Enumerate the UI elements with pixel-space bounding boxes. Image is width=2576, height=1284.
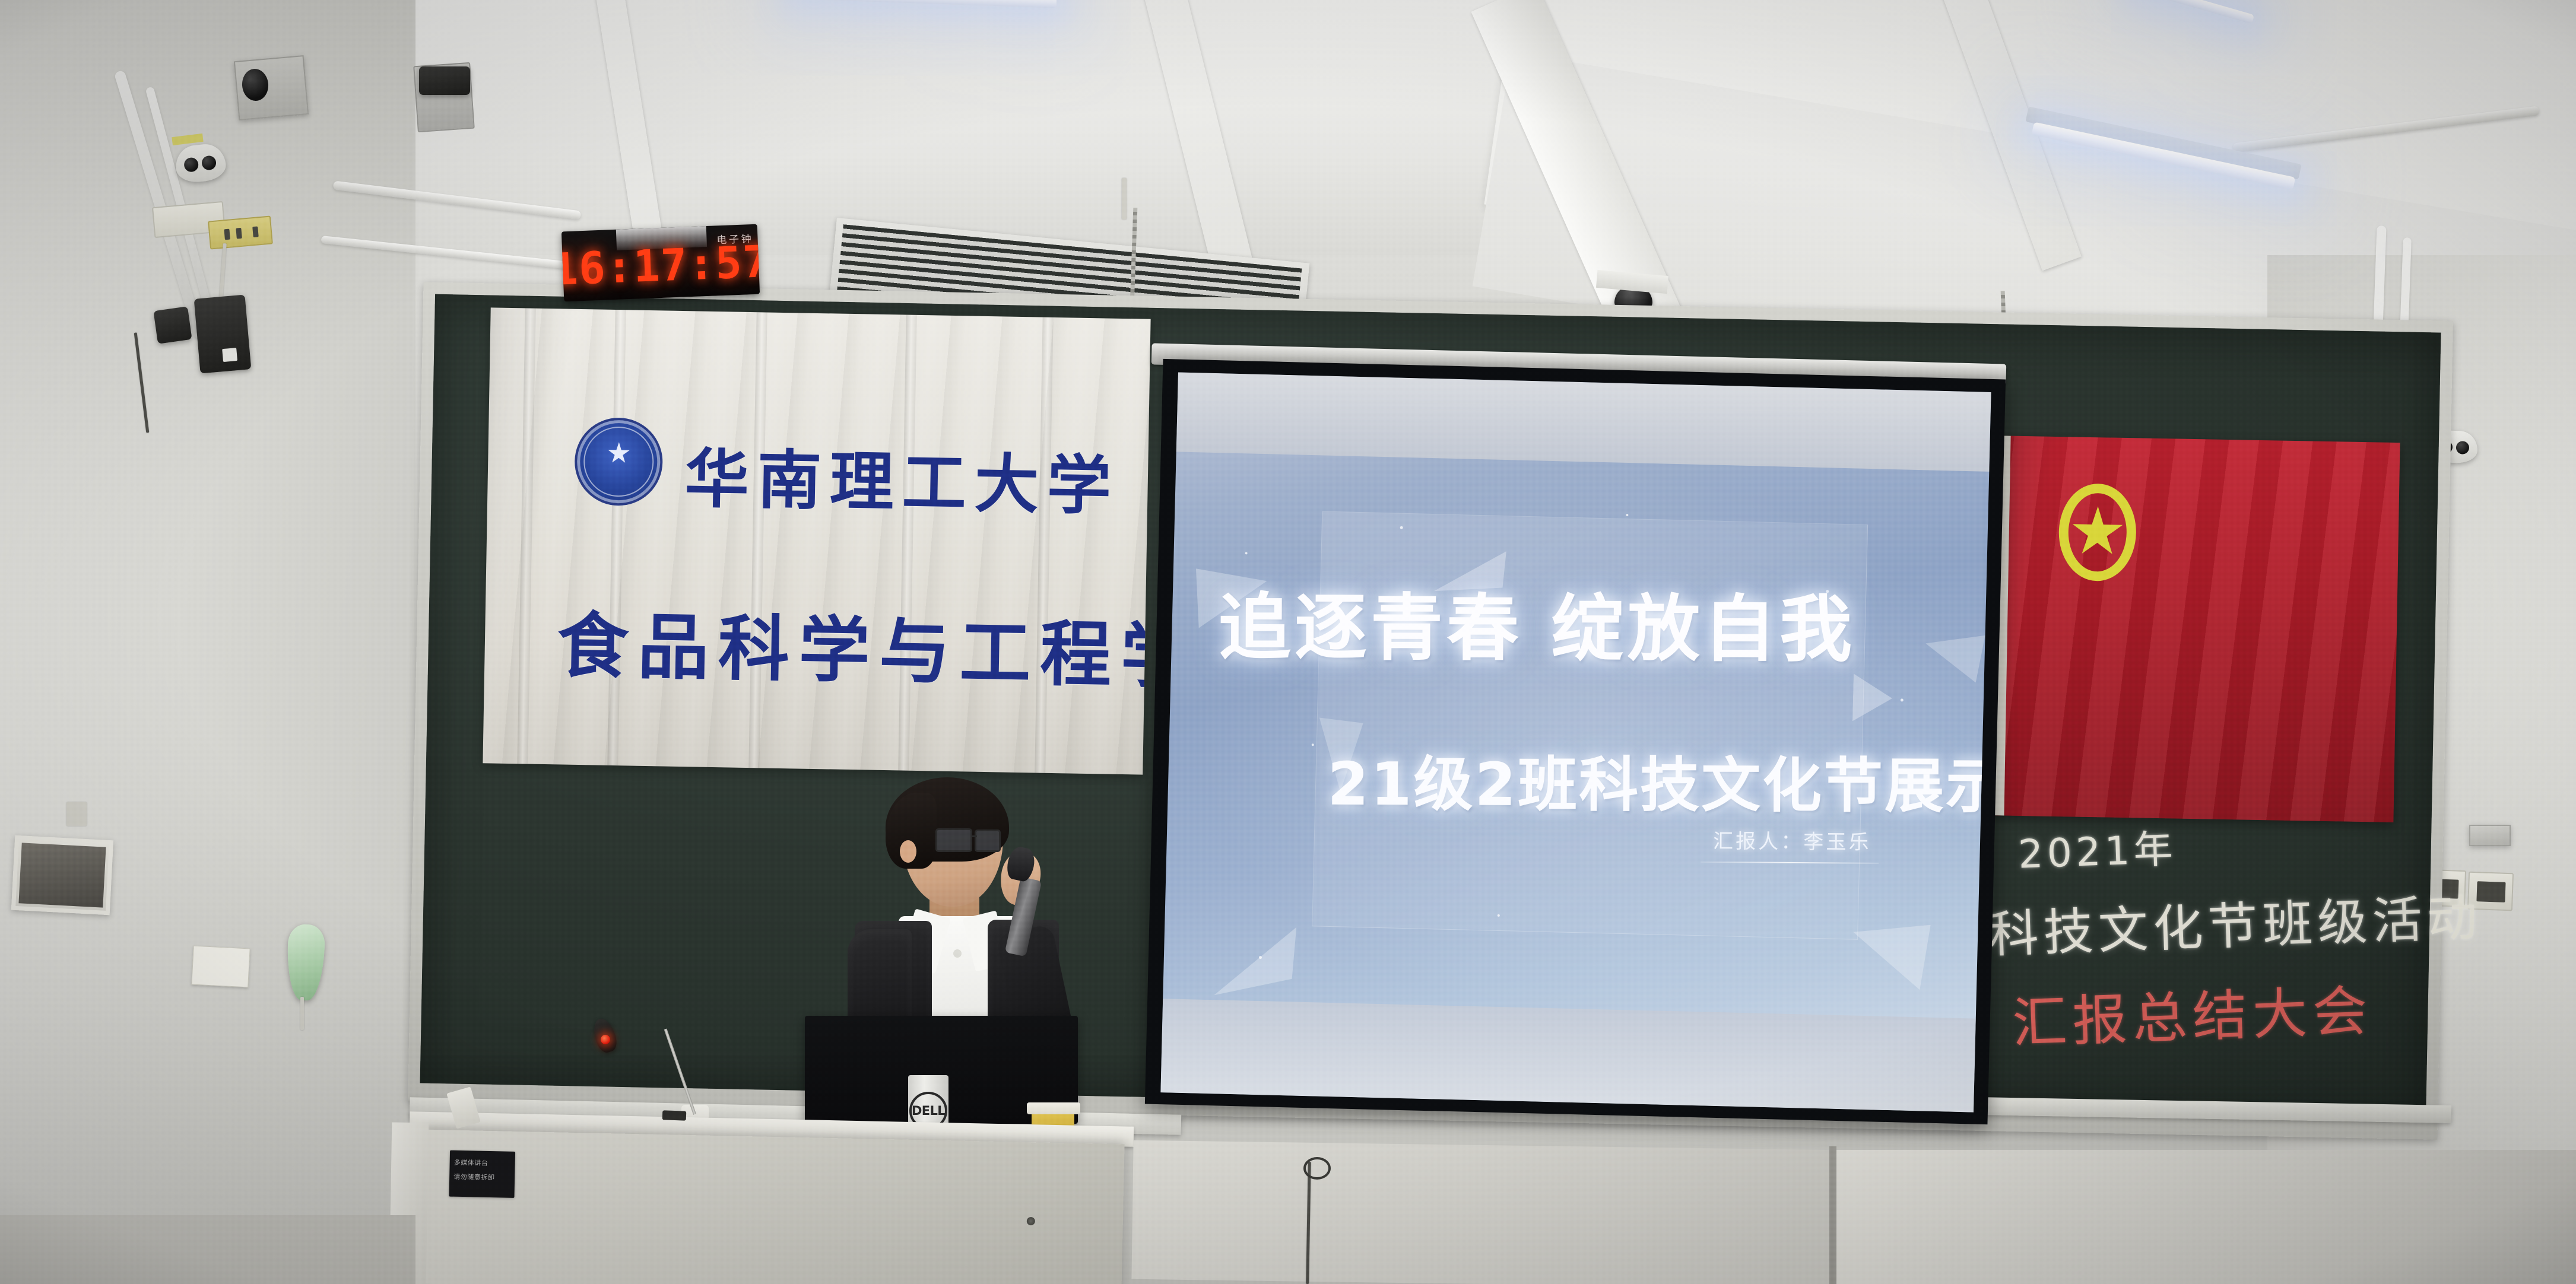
slide-decor-triangle <box>1214 925 1296 997</box>
wall-inspection-panel <box>11 835 113 916</box>
glasses-lens-left <box>935 828 972 852</box>
slide-decor-triangle <box>1925 634 1985 682</box>
nameplate-line-2: 请勿随意拆卸 <box>453 1172 495 1182</box>
shirt-button <box>953 949 962 958</box>
cable-hook <box>1303 1157 1331 1180</box>
board-eraser <box>662 1110 687 1120</box>
banner-university-name: 华南理工大学 <box>684 427 1121 527</box>
mic-power-led <box>601 1035 610 1044</box>
lower-cabinet-left <box>1131 1140 1839 1284</box>
slide-presenter: 汇报人：李玉乐 <box>1713 825 1871 855</box>
lower-cabinet-right <box>1835 1150 2576 1284</box>
presenter-ear <box>900 840 916 863</box>
projection-screen-frame: 追逐青春 绽放自我 21级2班科技文化节展示 汇报人：李玉乐 <box>1145 359 2006 1124</box>
slide-title: 追逐青春 绽放自我 <box>1219 568 1856 676</box>
glasses-bridge <box>971 835 977 837</box>
panel-tag <box>66 802 87 826</box>
chalk-line-meeting: 汇报总结大会 <box>2011 967 2374 1058</box>
youth-league-flag <box>1984 436 2400 822</box>
projection-screen[interactable]: 追逐青春 绽放自我 21级2班科技文化节展示 汇报人：李玉乐 <box>1160 372 1991 1112</box>
hook-cable <box>1122 178 1127 220</box>
lower-wall-left <box>0 1215 415 1284</box>
podium-body[interactable]: 多媒体讲台 请勿随意拆卸 <box>421 1130 1124 1284</box>
intercom-cord <box>300 997 304 1030</box>
chalk-line-year: 2021年 <box>2017 817 2177 879</box>
digital-clock: 电子钟 16:17:57 <box>561 224 760 302</box>
dell-logo-text: DELL <box>912 1104 945 1118</box>
camera-lens-icon <box>2456 441 2470 455</box>
slide-subtitle: 21级2班科技文化节展示 <box>1327 736 1991 824</box>
glasses-lens-right <box>975 829 1001 852</box>
department-banner: 华南理工大学 食品科学与工程学院 <box>483 307 1150 774</box>
wall-adapter <box>153 306 192 344</box>
banner-school-name: 食品科学与工程学院 <box>557 587 1151 703</box>
wall-notice-sign <box>191 946 250 988</box>
camera-lens-icon <box>183 157 199 172</box>
flag-star-emblem <box>2058 483 2137 581</box>
nameplate-line-1: 多媒体讲台 <box>454 1158 488 1168</box>
camera-lens-icon <box>201 155 217 170</box>
speaker-grille <box>419 66 470 95</box>
classroom-scene: 2021年 科技文化节班级活动 汇报总结大会 华南理工大学 食品科学与工程学院 <box>0 0 2576 1284</box>
podium-nameplate: 多媒体讲台 请勿随意拆卸 <box>449 1150 515 1198</box>
power-socket-yellow <box>208 215 273 249</box>
slide-decor-triangle <box>1852 923 1931 990</box>
wall-mounted-phone <box>194 294 252 373</box>
clock-time-display: 16:17:57 <box>561 236 760 295</box>
left-wall <box>0 0 415 1284</box>
podium-lock[interactable] <box>1027 1217 1035 1225</box>
cup-lid <box>1027 1102 1080 1114</box>
university-seal <box>574 417 664 507</box>
cabinet-seam <box>1829 1146 1836 1284</box>
